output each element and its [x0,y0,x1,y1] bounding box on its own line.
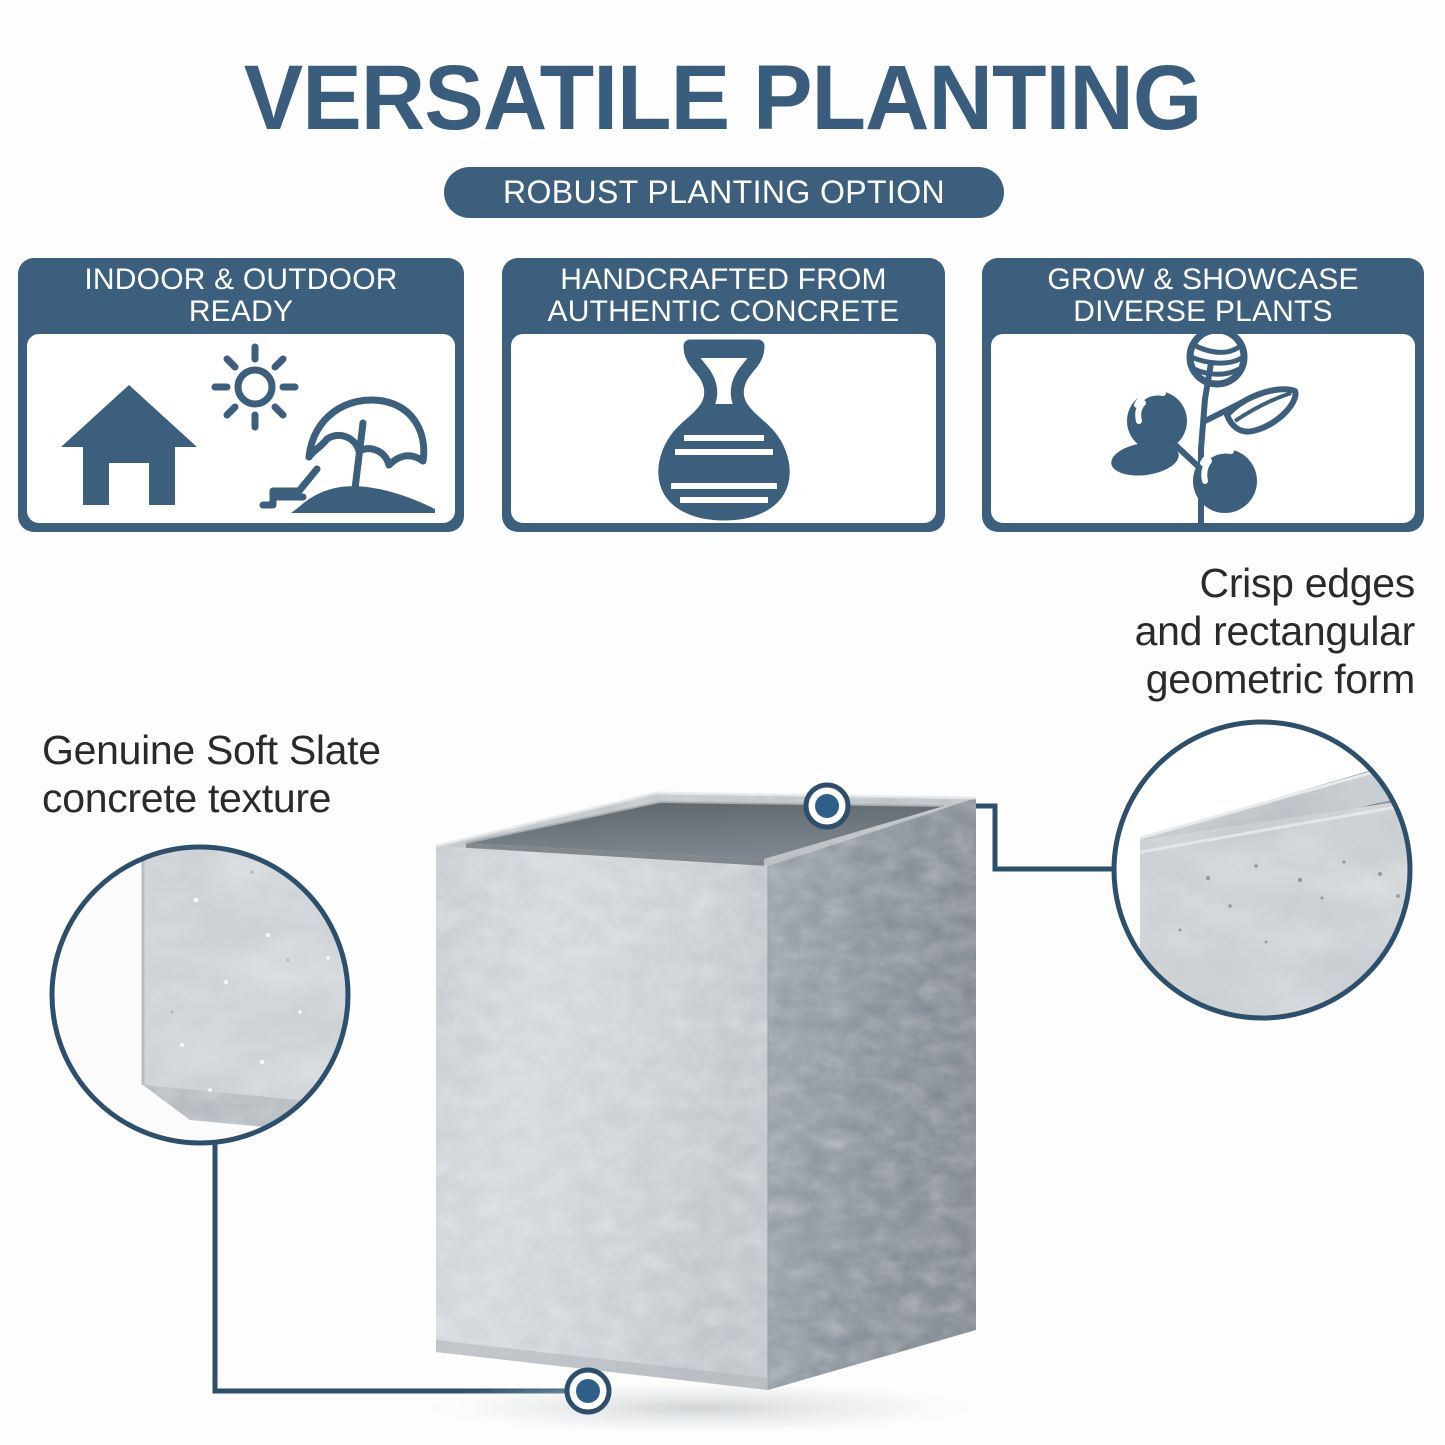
berry-icon-lower [1193,449,1257,513]
berry-branch-icon-group [1093,334,1313,523]
callout-line-3: geometric form [955,656,1415,704]
card-title-line-2: DIVERSE PLANTS [1073,295,1333,328]
feature-card-diverse-plants: GROW & SHOWCASE DIVERSE PLANTS [982,258,1424,532]
feature-card-body [511,334,936,523]
vase-neck-collar [684,342,764,358]
callout-connector-lines [215,806,1118,1391]
closeup-interior-dark [1140,756,1430,862]
product-shadow [410,1380,990,1436]
callout-crisp-edges-text: Crisp edges and rectangular geometric fo… [955,560,1415,704]
feature-card-body [27,334,455,523]
product-planter [436,793,976,1390]
planter-rim-highlight [436,793,976,846]
feature-card-title: HANDCRAFTED FROM AUTHENTIC CONCRETE [502,258,945,334]
planter-base-shade [436,1340,768,1390]
detail-circle-ring [52,847,348,1143]
closeup-speckles [180,898,330,1092]
callout-line-1: Crisp edges [955,560,1415,608]
infographic-canvas: VERSATILE PLANTING ROBUST PLANTING OPTIO… [0,0,1445,1445]
callout-line-1: Genuine Soft Slate [42,727,462,775]
berry-icon-left [1127,391,1187,451]
callout-line-2: concrete texture [42,775,462,823]
connector-top-right [846,806,1118,869]
callout-line-2: and rectangular [955,608,1415,656]
planter-rim-top [436,793,976,866]
detail-circle-crisp-edges [1100,720,1436,1030]
detail-circle-ring [1114,722,1410,1018]
card-title-line-1: INDOOR & OUTDOOR [84,263,397,296]
callout-soft-slate-text: Genuine Soft Slate concrete texture [42,727,462,823]
card-title-line-1: HANDCRAFTED FROM [560,263,887,296]
page-title: VERSATILE PLANTING [22,52,1424,144]
feature-card-authentic-concrete: HANDCRAFTED FROM AUTHENTIC CONCRETE [502,258,945,532]
detail-circle-soft-slate [50,845,352,1145]
card-title-line-1: GROW & SHOWCASE [1047,263,1358,296]
feature-card-title: GROW & SHOWCASE DIVERSE PLANTS [982,258,1424,334]
feature-card-indoor-outdoor: INDOOR & OUTDOOR READY [18,258,464,532]
planter-interior [466,802,944,859]
card-title-line-2: AUTHENTIC CONCRETE [548,295,900,328]
planter-interior-wall [466,843,764,872]
callout-marker-top [806,785,848,827]
closeup-rim-band [1140,756,1436,856]
planter-side-face [768,798,976,1390]
closeup-corner-base [143,1085,352,1135]
indoor-outdoor-icon-group [41,339,441,519]
house-icon [61,385,197,505]
closeup-corner-face [143,845,352,1105]
striped-berry-icon [1190,334,1244,384]
connector-bottom-left [215,1143,581,1391]
status-badge: ROBUST PLANTING OPTION [444,167,1004,218]
planter-rim-inner-edge [466,802,944,843]
planter-front-face [436,846,768,1390]
sand-mound-icon [291,486,435,513]
callout-marker-bottom [567,1370,609,1412]
closeup-front-wall [1140,796,1436,1030]
feature-card-body [991,334,1415,523]
leaf-outline-icon [1227,389,1296,431]
sun-icon [215,347,295,427]
closeup-speckles [1179,860,1400,943]
vase-icon-group [624,334,824,523]
feature-card-title: INDOOR & OUTDOOR READY [18,258,464,334]
card-title-line-2: READY [189,295,293,328]
